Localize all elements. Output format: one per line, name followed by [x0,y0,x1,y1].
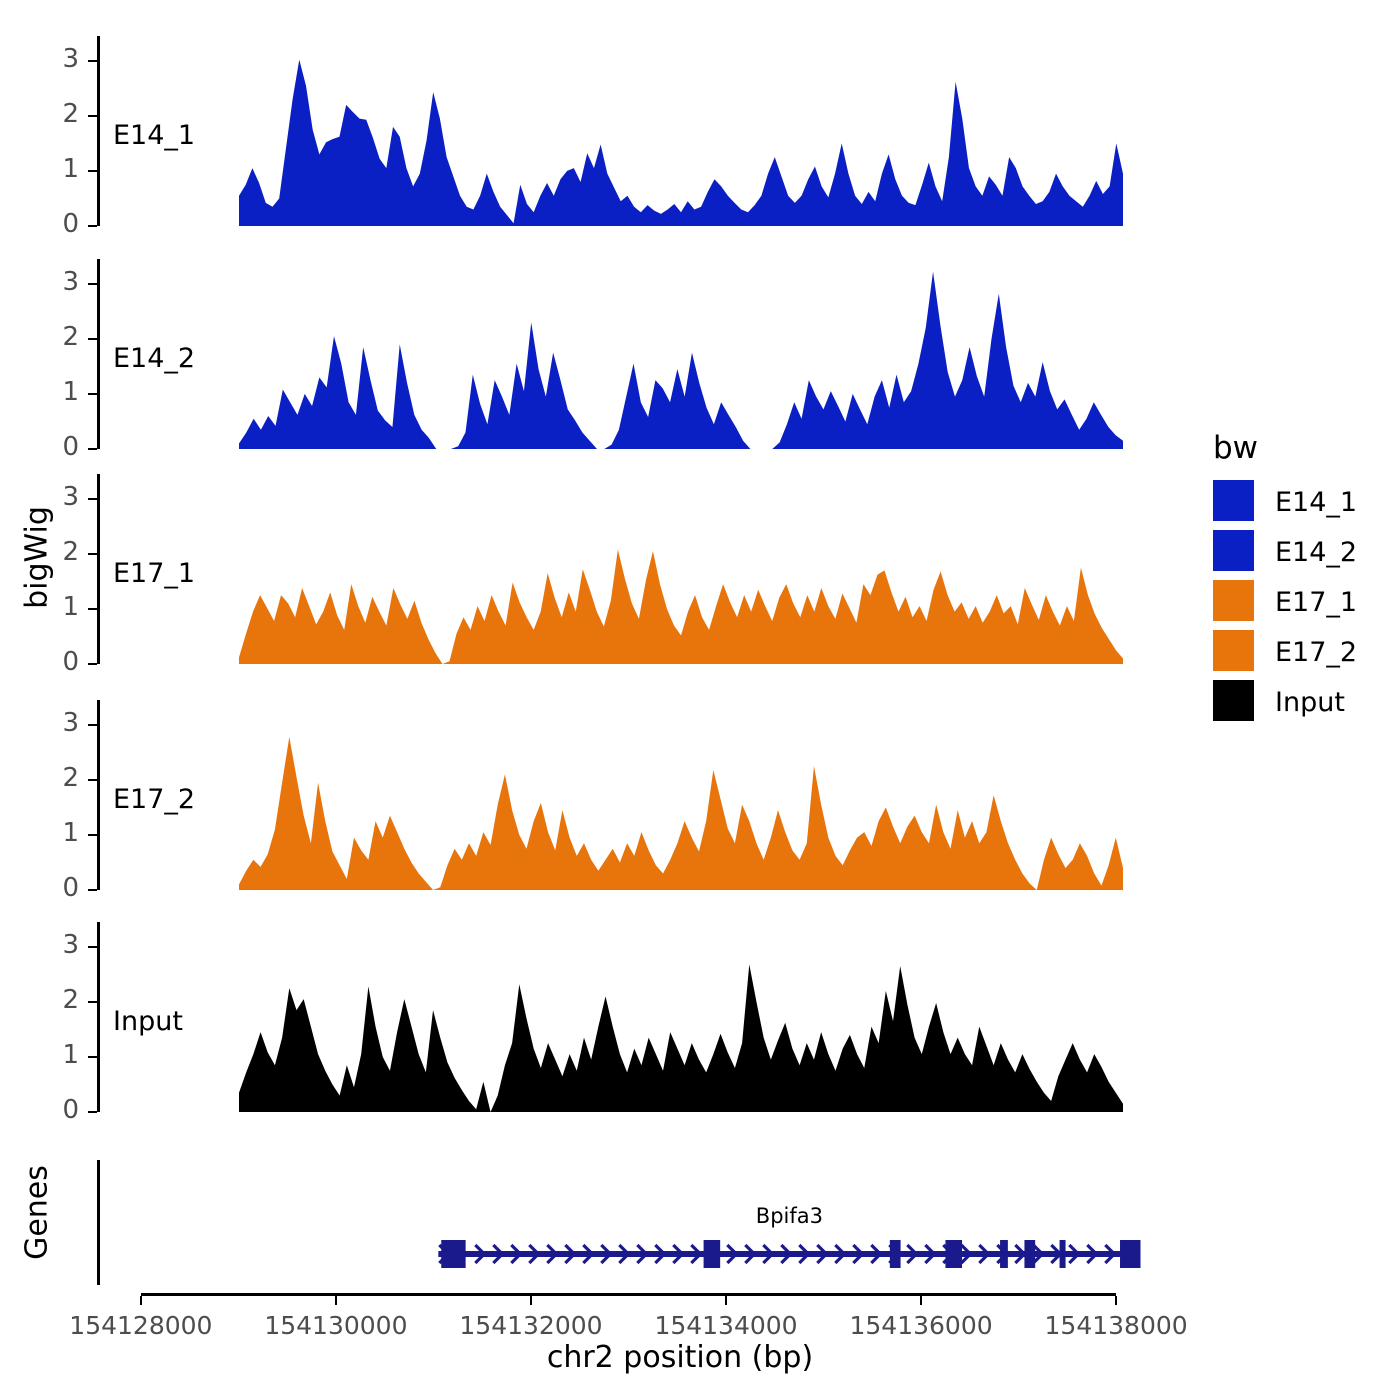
signal-segment [239,737,433,890]
legend-key-e17_1[interactable] [1213,580,1254,621]
legend-key-e14_1[interactable] [1213,480,1254,521]
signal-segment [239,60,1123,226]
track-panel-e17_1: 0123E17_1 [0,474,1160,664]
x-tick-label: 154134000 [616,1311,836,1340]
signal-segment [442,549,1123,664]
legend-key-e14_2[interactable] [1213,530,1254,571]
signal-segment [451,322,597,449]
x-tick-mark [530,1296,532,1305]
exon-block [1120,1240,1140,1268]
signal-area-e14_2 [0,259,1160,449]
exon-block [1000,1240,1008,1268]
exon-block [945,1240,962,1268]
track-panel-e14_1: 0123E14_1 [0,36,1160,226]
gene-name-label: Bpifa3 [699,1204,879,1228]
signal-segment [772,272,1123,449]
x-tick-label: 154132000 [421,1311,641,1340]
x-tick-mark [140,1296,142,1305]
legend-label-e14_2: E14_2 [1275,537,1357,568]
legend-title: bw [1213,430,1258,466]
exon-block [1060,1240,1066,1268]
x-tick-mark [920,1296,922,1305]
x-tick-label: 154138000 [1006,1311,1226,1340]
signal-area-e14_1 [0,36,1160,226]
legend-label-e17_1: E17_1 [1275,587,1357,618]
genome-browser-figure: bigWig Genes 0123E14_10123E14_20123E17_1… [0,0,1400,1400]
signal-segment [1037,838,1123,890]
signal-area-e17_2 [0,700,1160,890]
x-tick-mark [335,1296,337,1305]
exon-block [1024,1240,1035,1268]
legend-label-e14_1: E14_1 [1275,487,1357,518]
x-axis-label: chr2 position (bp) [240,1340,1120,1375]
gene-track-panel: Bpifa3 [0,1160,1160,1285]
exon-block [890,1240,901,1268]
track-panel-e17_2: 0123E17_2 [0,700,1160,890]
signal-segment [239,336,436,449]
legend-key-input[interactable] [1213,680,1254,721]
legend-label-input: Input [1275,687,1345,718]
signal-segment [604,353,750,449]
legend-key-e17_2[interactable] [1213,630,1254,671]
x-tick-mark [1115,1296,1117,1305]
x-tick-mark [725,1296,727,1305]
signal-segment [491,964,1123,1112]
signal-segment [433,766,1037,890]
x-tick-label: 154136000 [811,1311,1031,1340]
signal-segment [239,584,442,664]
signal-area-input [0,922,1160,1112]
x-axis-line [141,1293,1116,1296]
track-panel-e14_2: 0123E14_2 [0,259,1160,449]
signal-segment [239,986,491,1112]
x-tick-label: 154128000 [31,1311,251,1340]
track-panel-input: 0123Input [0,922,1160,1112]
exon-block [704,1240,721,1268]
legend-label-e17_2: E17_2 [1275,637,1357,668]
signal-area-e17_1 [0,474,1160,664]
gene-model-bpifa3[interactable] [0,1160,1160,1285]
exon-block [441,1240,465,1268]
x-tick-label: 154130000 [226,1311,446,1340]
